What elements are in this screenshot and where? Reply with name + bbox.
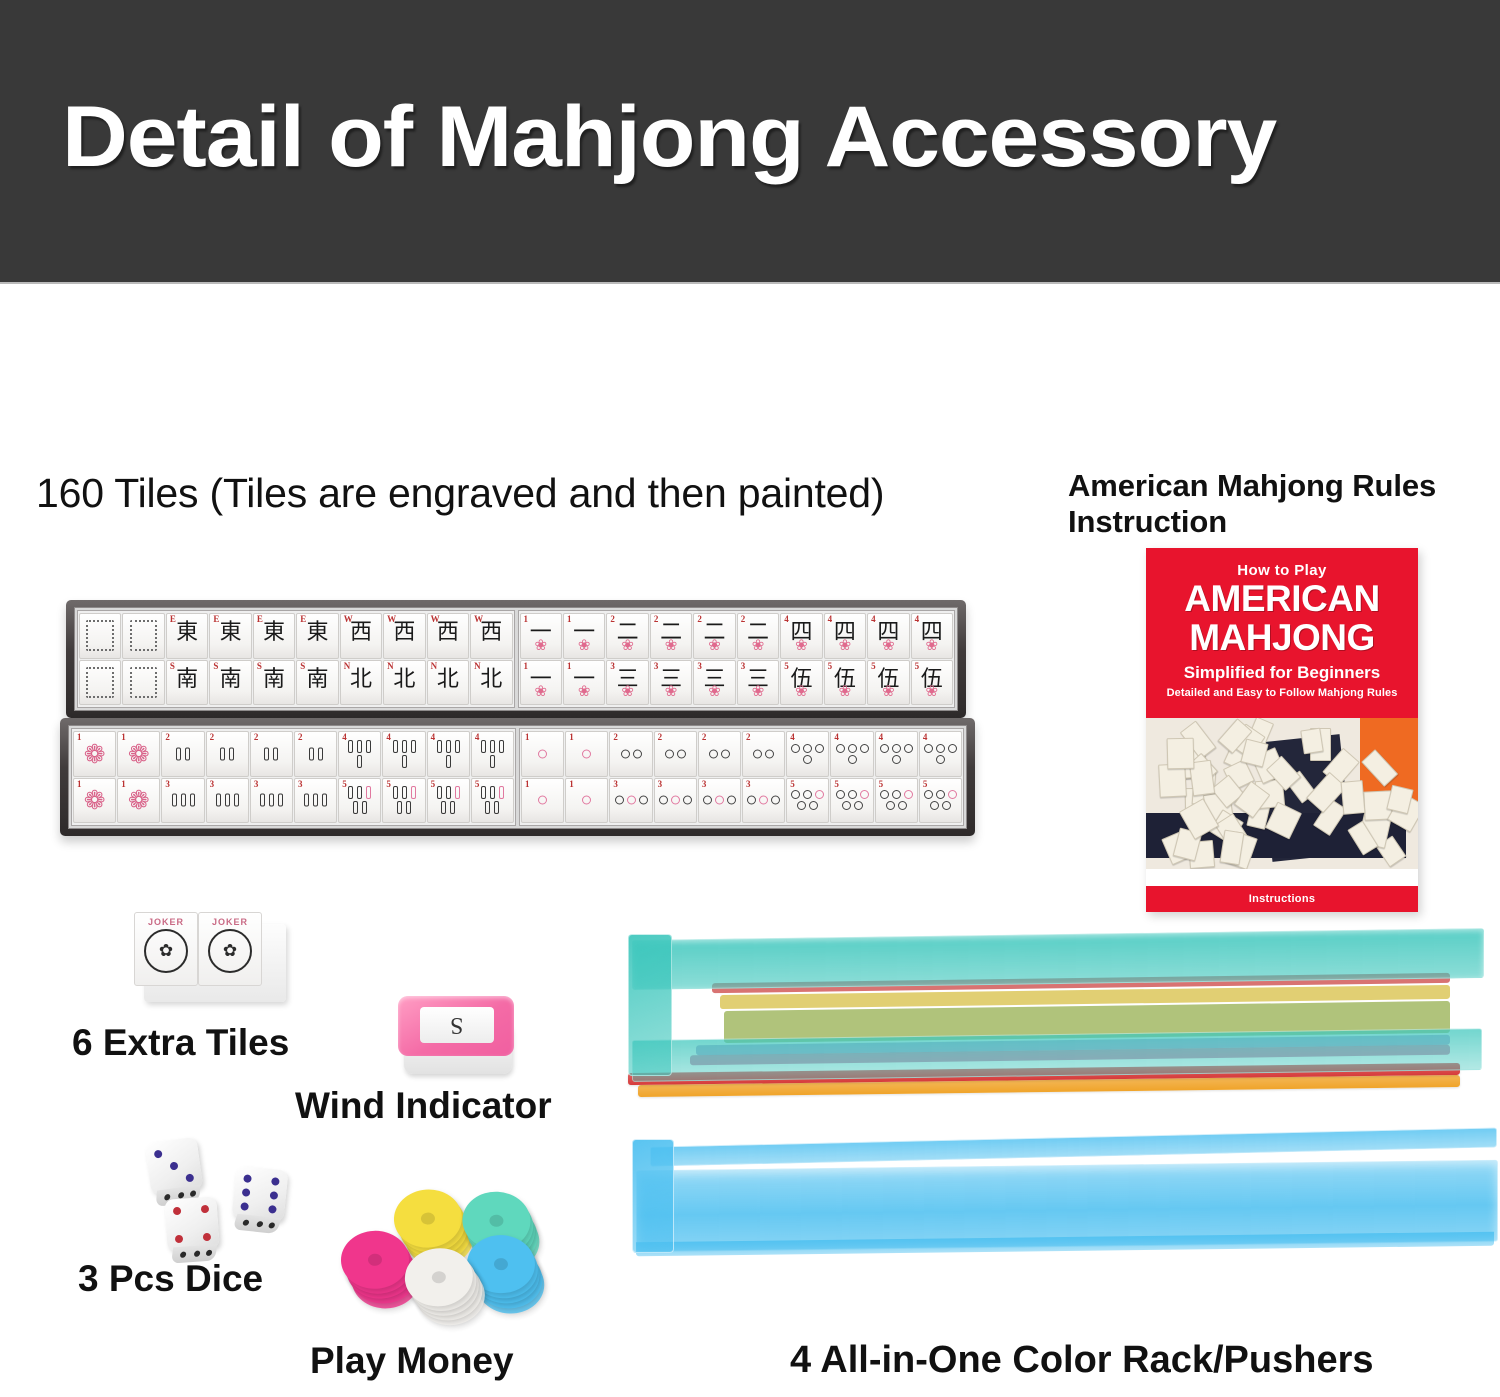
tile: 1❁ xyxy=(73,731,116,777)
tile-glyph: 北 xyxy=(428,669,468,691)
dot-icon xyxy=(904,744,913,753)
tile-number: 4 xyxy=(879,733,884,742)
bamboo-icon xyxy=(499,786,504,799)
tile-glyph: 南 xyxy=(297,669,337,691)
caption-racks-pushers: 4 All-in-One Color Rack/Pushers xyxy=(790,1338,1374,1382)
die-face xyxy=(237,1171,283,1217)
bamboo-icon xyxy=(181,794,186,807)
dot-icon xyxy=(803,755,812,764)
die-pip xyxy=(268,1205,277,1214)
dot-icon xyxy=(880,744,889,753)
tile: E東 xyxy=(166,613,208,659)
die-pip xyxy=(240,1202,249,1211)
tile: 5 xyxy=(919,778,962,824)
bamboo-icon xyxy=(322,794,327,807)
tile-flower-icon: ❀ xyxy=(651,684,691,699)
tile: 4四❀ xyxy=(780,613,822,659)
tile-number: 5 xyxy=(879,780,884,789)
tile-glyph: 東 xyxy=(210,622,250,644)
wind-indicator-letter: S xyxy=(450,1013,463,1037)
tile-glyph: 西 xyxy=(384,622,424,644)
tile-glyph: 西 xyxy=(471,622,511,644)
tile xyxy=(122,660,164,706)
tile-flower-icon: ❁ xyxy=(74,787,115,813)
die-pip xyxy=(242,1188,251,1197)
tile-bamboo-group xyxy=(162,747,203,760)
bamboo-icon xyxy=(437,786,442,799)
bamboo-icon xyxy=(357,740,362,753)
dot-icon xyxy=(659,796,668,805)
tile-bamboo-group xyxy=(207,747,248,760)
tile-flower-icon: ❀ xyxy=(825,684,865,699)
book-cover-photo xyxy=(1146,718,1418,869)
tile: 5 xyxy=(471,778,514,824)
tile: 5伍❀ xyxy=(867,660,909,706)
bamboo-icon xyxy=(309,747,314,760)
bamboo-icon xyxy=(437,740,442,753)
tile-flower-icon: ❀ xyxy=(868,684,908,699)
tile-bamboo-group xyxy=(472,786,513,814)
bamboo-icon xyxy=(455,740,460,753)
tile-flower-icon: ❀ xyxy=(521,638,561,653)
dot-icon xyxy=(709,749,718,758)
tile-flower-icon: ❀ xyxy=(738,638,778,653)
tile: 1❁ xyxy=(117,731,160,777)
die-side-pip xyxy=(180,1251,187,1257)
bamboo-icon xyxy=(216,794,221,807)
dot-icon xyxy=(848,755,857,764)
tile: 5 xyxy=(786,778,829,824)
dot-icon xyxy=(715,796,724,805)
tile: 2 xyxy=(206,731,249,777)
dot-icon xyxy=(538,796,547,805)
dot-icon xyxy=(665,749,674,758)
tile-glyph: 東 xyxy=(297,622,337,644)
dot-icon xyxy=(633,749,642,758)
rack-stack-colored xyxy=(620,930,1490,1115)
tile-dot-group xyxy=(522,749,563,758)
tile-dot-group xyxy=(787,744,828,764)
tile: S南 xyxy=(209,660,251,706)
tile: 4四❀ xyxy=(867,613,909,659)
tile: 3 xyxy=(609,778,652,824)
tile-number: 4 xyxy=(790,733,795,742)
dot-icon xyxy=(836,744,845,753)
tile-glyph: 東 xyxy=(167,622,207,644)
dot-icon xyxy=(936,744,945,753)
tile: 1一❀ xyxy=(563,613,605,659)
die-pip xyxy=(271,1177,280,1186)
die-pip xyxy=(185,1173,194,1182)
bamboo-icon xyxy=(481,740,486,753)
tile-number: 5 xyxy=(834,780,839,789)
bamboo-icon xyxy=(353,801,358,814)
bamboo-icon xyxy=(490,786,495,799)
tile-dot-group xyxy=(920,744,961,764)
tile-number: 3 xyxy=(613,780,618,789)
dot-icon xyxy=(791,744,800,753)
die-side-face xyxy=(232,1214,281,1234)
bamboo-icon xyxy=(494,801,499,814)
extra-joker-tiles: JOKER ✿ JOKER ✿ xyxy=(130,908,290,1008)
dot-icon xyxy=(791,790,800,799)
tile-number: 2 xyxy=(254,733,259,742)
die-face xyxy=(150,1142,197,1189)
joker-tile-2: JOKER ✿ xyxy=(198,912,262,986)
bamboo-icon xyxy=(406,801,411,814)
tile-tray-bottom: 1❁1❁222244441❁1❁33335555 112222444411333… xyxy=(60,718,975,836)
die-pip xyxy=(173,1207,182,1216)
dot-icon xyxy=(886,801,895,810)
bamboo-icon xyxy=(455,786,460,799)
bamboo-icon xyxy=(185,747,190,760)
tile-number: 4 xyxy=(923,733,928,742)
bamboo-icon xyxy=(357,755,362,768)
tile: 1 xyxy=(565,731,608,777)
tile-dot-group xyxy=(743,749,784,758)
dot-icon xyxy=(582,796,591,805)
tile-bamboo-group xyxy=(251,747,292,760)
tile: 3 xyxy=(206,778,249,824)
page-title: Detail of Mahjong Accessory xyxy=(62,88,1276,187)
die-side-pip xyxy=(194,1250,201,1256)
bamboo-icon xyxy=(481,786,486,799)
dot-icon xyxy=(759,796,768,805)
bamboo-icon xyxy=(450,801,455,814)
book-line-american: AMERICAN xyxy=(1146,580,1418,618)
dice-group xyxy=(138,1140,318,1260)
tile: 1❁ xyxy=(117,778,160,824)
die-side-pip xyxy=(268,1222,276,1228)
tile-number: 3 xyxy=(658,780,663,789)
rules-book: How to Play AMERICAN MAHJONG Simplified … xyxy=(1146,548,1418,912)
tile: 4 xyxy=(919,731,962,777)
die-side-pip xyxy=(256,1221,264,1227)
dot-icon xyxy=(627,796,636,805)
bamboo-icon xyxy=(304,794,309,807)
bamboo-icon xyxy=(273,747,278,760)
bamboo-icon xyxy=(499,740,504,753)
tile-number: 3 xyxy=(210,780,215,789)
tile-dot-group xyxy=(610,796,651,805)
play-money-chips xyxy=(340,1190,570,1340)
tile-number: 2 xyxy=(298,733,303,742)
tile: W西 xyxy=(340,613,382,659)
tile-glyph: 東 xyxy=(254,622,294,644)
tile: 2 xyxy=(609,731,652,777)
tile-glyph: 南 xyxy=(254,669,294,691)
bamboo-icon xyxy=(348,740,353,753)
bamboo-icon xyxy=(190,794,195,807)
bamboo-icon xyxy=(362,801,367,814)
bamboo-icon xyxy=(402,786,407,799)
bamboo-icon xyxy=(348,786,353,799)
die-pip xyxy=(243,1174,252,1183)
bamboo-icon xyxy=(411,740,416,753)
bamboo-icon xyxy=(397,801,402,814)
tile-flower-icon: ❀ xyxy=(651,638,691,653)
tile-number: 1 xyxy=(569,780,574,789)
tile xyxy=(79,613,121,659)
tile-flower-icon: ❁ xyxy=(74,741,115,767)
tile-number: 2 xyxy=(613,733,618,742)
bamboo-icon xyxy=(490,755,495,768)
tile-number: 4 xyxy=(834,733,839,742)
wind-indicator: S xyxy=(398,996,518,1080)
dot-icon xyxy=(848,744,857,753)
bamboo-icon xyxy=(260,794,265,807)
tile-dot-group xyxy=(655,796,696,805)
tile-number: 1 xyxy=(525,780,530,789)
tile: N北 xyxy=(427,660,469,706)
caption-rules-instruction: American Mahjong Rules Instruction xyxy=(1068,468,1488,540)
tile: 5 xyxy=(382,778,425,824)
tile-number: 3 xyxy=(702,780,707,789)
tile-row: 1122224444 xyxy=(521,731,962,777)
tile-dot-group xyxy=(876,744,917,764)
bamboo-icon xyxy=(366,786,371,799)
tile: 3 xyxy=(742,778,785,824)
tile-number: 3 xyxy=(165,780,170,789)
book-footer-bar: Instructions xyxy=(1146,886,1418,912)
dot-icon xyxy=(924,744,933,753)
dot-icon xyxy=(721,749,730,758)
tile-frame-icon xyxy=(86,620,114,651)
tile-glyph: 北 xyxy=(341,669,381,691)
tile: 2 xyxy=(654,731,697,777)
bamboo-icon xyxy=(357,786,362,799)
tile: 3三❀ xyxy=(650,660,692,706)
tile: 4 xyxy=(875,731,918,777)
tile-bamboo-group xyxy=(339,740,380,768)
tile-dot-group xyxy=(831,790,872,810)
rack-pusher-end-cap xyxy=(632,1139,674,1253)
tile-flower-icon: ❀ xyxy=(564,684,604,699)
dot-icon xyxy=(815,744,824,753)
dot-icon xyxy=(671,796,680,805)
tile xyxy=(79,660,121,706)
book-line-tagline: Detailed and Easy to Follow Mahjong Rule… xyxy=(1146,687,1418,699)
tile: N北 xyxy=(470,660,512,706)
tile: 3 xyxy=(294,778,337,824)
tile: S南 xyxy=(166,660,208,706)
tile: N北 xyxy=(340,660,382,706)
die-face xyxy=(170,1202,215,1247)
tile-number: 5 xyxy=(923,780,928,789)
tile-flower-icon: ❀ xyxy=(912,684,952,699)
dot-icon xyxy=(948,744,957,753)
dot-icon xyxy=(860,790,869,799)
tile-row: 1一❀1一❀2二❀2二❀2二❀2二❀4四❀4四❀4四❀4四❀ xyxy=(520,613,954,659)
tile: 2 xyxy=(250,731,293,777)
dot-icon xyxy=(942,801,951,810)
dot-icon xyxy=(582,749,591,758)
book-line-subtitle: Simplified for Beginners xyxy=(1146,663,1418,683)
tile: 4四❀ xyxy=(911,613,953,659)
bamboo-icon xyxy=(441,801,446,814)
tile: N北 xyxy=(383,660,425,706)
tile: 2二❀ xyxy=(606,613,648,659)
tile-glyph: 北 xyxy=(384,669,424,691)
bamboo-icon xyxy=(264,747,269,760)
tile-number: 2 xyxy=(210,733,215,742)
tile xyxy=(122,613,164,659)
tile: 3 xyxy=(654,778,697,824)
bamboo-icon xyxy=(402,740,407,753)
book-line-mahjong: MAHJONG xyxy=(1146,619,1418,657)
tile: 4四❀ xyxy=(824,613,866,659)
tile: E東 xyxy=(253,613,295,659)
caption-play-money: Play Money xyxy=(310,1340,514,1383)
tile: 3 xyxy=(250,778,293,824)
tile-flower-icon: ❀ xyxy=(694,684,734,699)
tile-group-characters: 1一❀1一❀2二❀2二❀2二❀2二❀4四❀4四❀4四❀4四❀1一❀1一❀3三❀3… xyxy=(518,610,956,708)
book-photo-tile xyxy=(1167,738,1195,769)
joker-label-2: JOKER xyxy=(199,917,261,927)
tile: 5伍❀ xyxy=(780,660,822,706)
tile-bamboo-group xyxy=(295,747,336,760)
tile: 1 xyxy=(521,731,564,777)
caption-extra-tiles: 6 Extra Tiles xyxy=(72,1022,289,1065)
dot-icon xyxy=(809,801,818,810)
bamboo-icon xyxy=(313,794,318,807)
bamboo-icon xyxy=(225,794,230,807)
tile: W西 xyxy=(470,613,512,659)
tile: 5伍❀ xyxy=(824,660,866,706)
tile: 3三❀ xyxy=(737,660,779,706)
tile-bamboo-group xyxy=(383,786,424,814)
rack-end-cap xyxy=(628,934,672,1076)
bamboo-icon xyxy=(446,755,451,768)
tile-dot-group xyxy=(566,749,607,758)
tile-row: E東E東E東E東W西W西W西W西 xyxy=(79,613,513,659)
dot-icon xyxy=(683,796,692,805)
tile-flower-icon: ❀ xyxy=(912,638,952,653)
header-banner: Detail of Mahjong Accessory xyxy=(0,0,1500,282)
tile-bamboo-group xyxy=(428,786,469,814)
tile: 4 xyxy=(786,731,829,777)
dot-icon xyxy=(930,801,939,810)
tile-flower-icon: ❀ xyxy=(564,638,604,653)
tile-group-bamboo: 1❁1❁222244441❁1❁33335555 xyxy=(71,728,516,826)
wind-indicator-face: S xyxy=(420,1007,494,1043)
tile: 4 xyxy=(338,731,381,777)
tile: 4 xyxy=(830,731,873,777)
dot-icon xyxy=(936,755,945,764)
book-footer-label: Instructions xyxy=(1146,886,1418,912)
tile-glyph: 南 xyxy=(167,669,207,691)
bamboo-icon xyxy=(176,747,181,760)
tile-bamboo-group xyxy=(207,794,248,807)
die-pip xyxy=(154,1150,163,1159)
tile-bamboo-group xyxy=(162,794,203,807)
tile-frame-icon xyxy=(86,667,114,698)
tile-bamboo-group xyxy=(339,786,380,814)
tile: S南 xyxy=(253,660,295,706)
tile: 1❁ xyxy=(73,778,116,824)
joker-label-1: JOKER xyxy=(135,917,197,927)
bamboo-icon xyxy=(490,740,495,753)
dot-icon xyxy=(898,801,907,810)
tile-number: 1 xyxy=(569,733,574,742)
die-pip xyxy=(175,1235,184,1244)
dot-icon xyxy=(615,796,624,805)
tile-number: 2 xyxy=(165,733,170,742)
joker-tile-1: JOKER ✿ xyxy=(134,912,198,986)
product-infographic: Detail of Mahjong Accessory 160 Tiles (T… xyxy=(0,0,1500,1397)
caption-dice: 3 Pcs Dice xyxy=(78,1258,263,1301)
dot-icon xyxy=(860,744,869,753)
tile-bamboo-group xyxy=(472,740,513,768)
dot-icon xyxy=(803,744,812,753)
die-side-pip xyxy=(206,1250,213,1256)
die xyxy=(231,1165,288,1222)
tile-dot-group xyxy=(566,796,607,805)
tile: 3三❀ xyxy=(606,660,648,706)
tile: 5 xyxy=(830,778,873,824)
tile-flower-icon: ❁ xyxy=(118,741,159,767)
dot-icon xyxy=(765,749,774,758)
dot-icon xyxy=(753,749,762,758)
bamboo-icon xyxy=(269,794,274,807)
tile-number: 3 xyxy=(298,780,303,789)
die-pip xyxy=(169,1161,178,1170)
dot-icon xyxy=(803,790,812,799)
bamboo-icon xyxy=(366,740,371,753)
book-photo-tile xyxy=(1340,780,1365,815)
dot-icon xyxy=(677,749,686,758)
dot-icon xyxy=(904,790,913,799)
book-photo-tile xyxy=(1300,727,1323,754)
tile-flower-icon: ❀ xyxy=(607,684,647,699)
caption-tiles: 160 Tiles (Tiles are engraved and then p… xyxy=(36,470,884,518)
bamboo-icon xyxy=(393,740,398,753)
tile: 5 xyxy=(338,778,381,824)
dot-icon xyxy=(815,790,824,799)
dot-icon xyxy=(621,749,630,758)
tile-number: 5 xyxy=(790,780,795,789)
bamboo-icon xyxy=(318,747,323,760)
tile-frame-icon xyxy=(130,620,158,651)
dot-icon xyxy=(848,790,857,799)
tile: 1 xyxy=(521,778,564,824)
die xyxy=(145,1137,204,1196)
tile-dot-group xyxy=(920,790,961,810)
tile: 4 xyxy=(382,731,425,777)
tile-number: 2 xyxy=(746,733,751,742)
dot-icon xyxy=(880,790,889,799)
tile-flower-icon: ❀ xyxy=(868,638,908,653)
tile-row: S南S南S南S南N北N北N北N北 xyxy=(79,660,513,706)
tile: 2 xyxy=(698,731,741,777)
dot-icon xyxy=(771,796,780,805)
book-cover-top: How to Play AMERICAN MAHJONG Simplified … xyxy=(1146,548,1418,718)
bamboo-icon xyxy=(411,786,416,799)
tile: 4 xyxy=(471,731,514,777)
book-line-how-to-play: How to Play xyxy=(1146,562,1418,579)
bamboo-icon xyxy=(234,794,239,807)
tile-dot-group xyxy=(699,796,740,805)
tile: 4 xyxy=(427,731,470,777)
tile-group-winds: E東E東E東E東W西W西W西W西S南S南S南S南N北N北N北N北 xyxy=(77,610,515,708)
bamboo-icon xyxy=(220,747,225,760)
tile-bamboo-group xyxy=(251,794,292,807)
caption-wind-indicator: Wind Indicator xyxy=(295,1085,552,1128)
dot-icon xyxy=(892,790,901,799)
dot-icon xyxy=(797,801,806,810)
tile: 3 xyxy=(698,778,741,824)
tile: 3 xyxy=(161,778,204,824)
